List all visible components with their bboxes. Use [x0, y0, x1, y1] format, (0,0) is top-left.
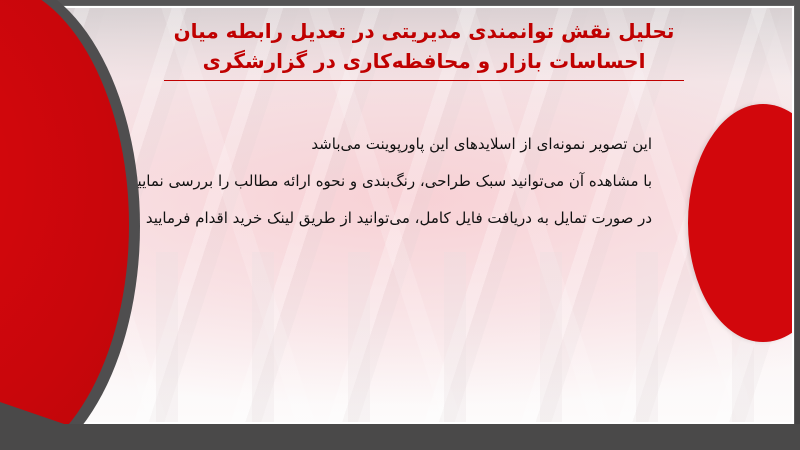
slide-body-text: این تصویر نمونه‌ای از اسلایدهای این پاور…	[132, 126, 652, 237]
title-line-1: تحلیل نقش توانمندی مدیریتی در تعدیل رابط…	[144, 16, 704, 46]
panel-vertical-bands	[24, 252, 792, 422]
title-line-2: احساسات بازار و محافظه‌کاری در گزارشگری	[144, 46, 704, 76]
body-line-2: با مشاهده آن می‌توانید سبک طراحی، رنگ‌بن…	[132, 163, 652, 200]
bottom-dark-band	[0, 424, 800, 450]
slide-canvas: تحلیل نقش توانمندی مدیریتی در تعدیل رابط…	[0, 0, 800, 450]
body-line-1: این تصویر نمونه‌ای از اسلایدهای این پاور…	[132, 126, 652, 163]
slide-title: تحلیل نقش توانمندی مدیریتی در تعدیل رابط…	[144, 16, 704, 81]
title-underline-rule	[164, 80, 684, 81]
body-line-3: در صورت تمایل به دریافت فایل کامل، می‌تو…	[132, 200, 652, 237]
